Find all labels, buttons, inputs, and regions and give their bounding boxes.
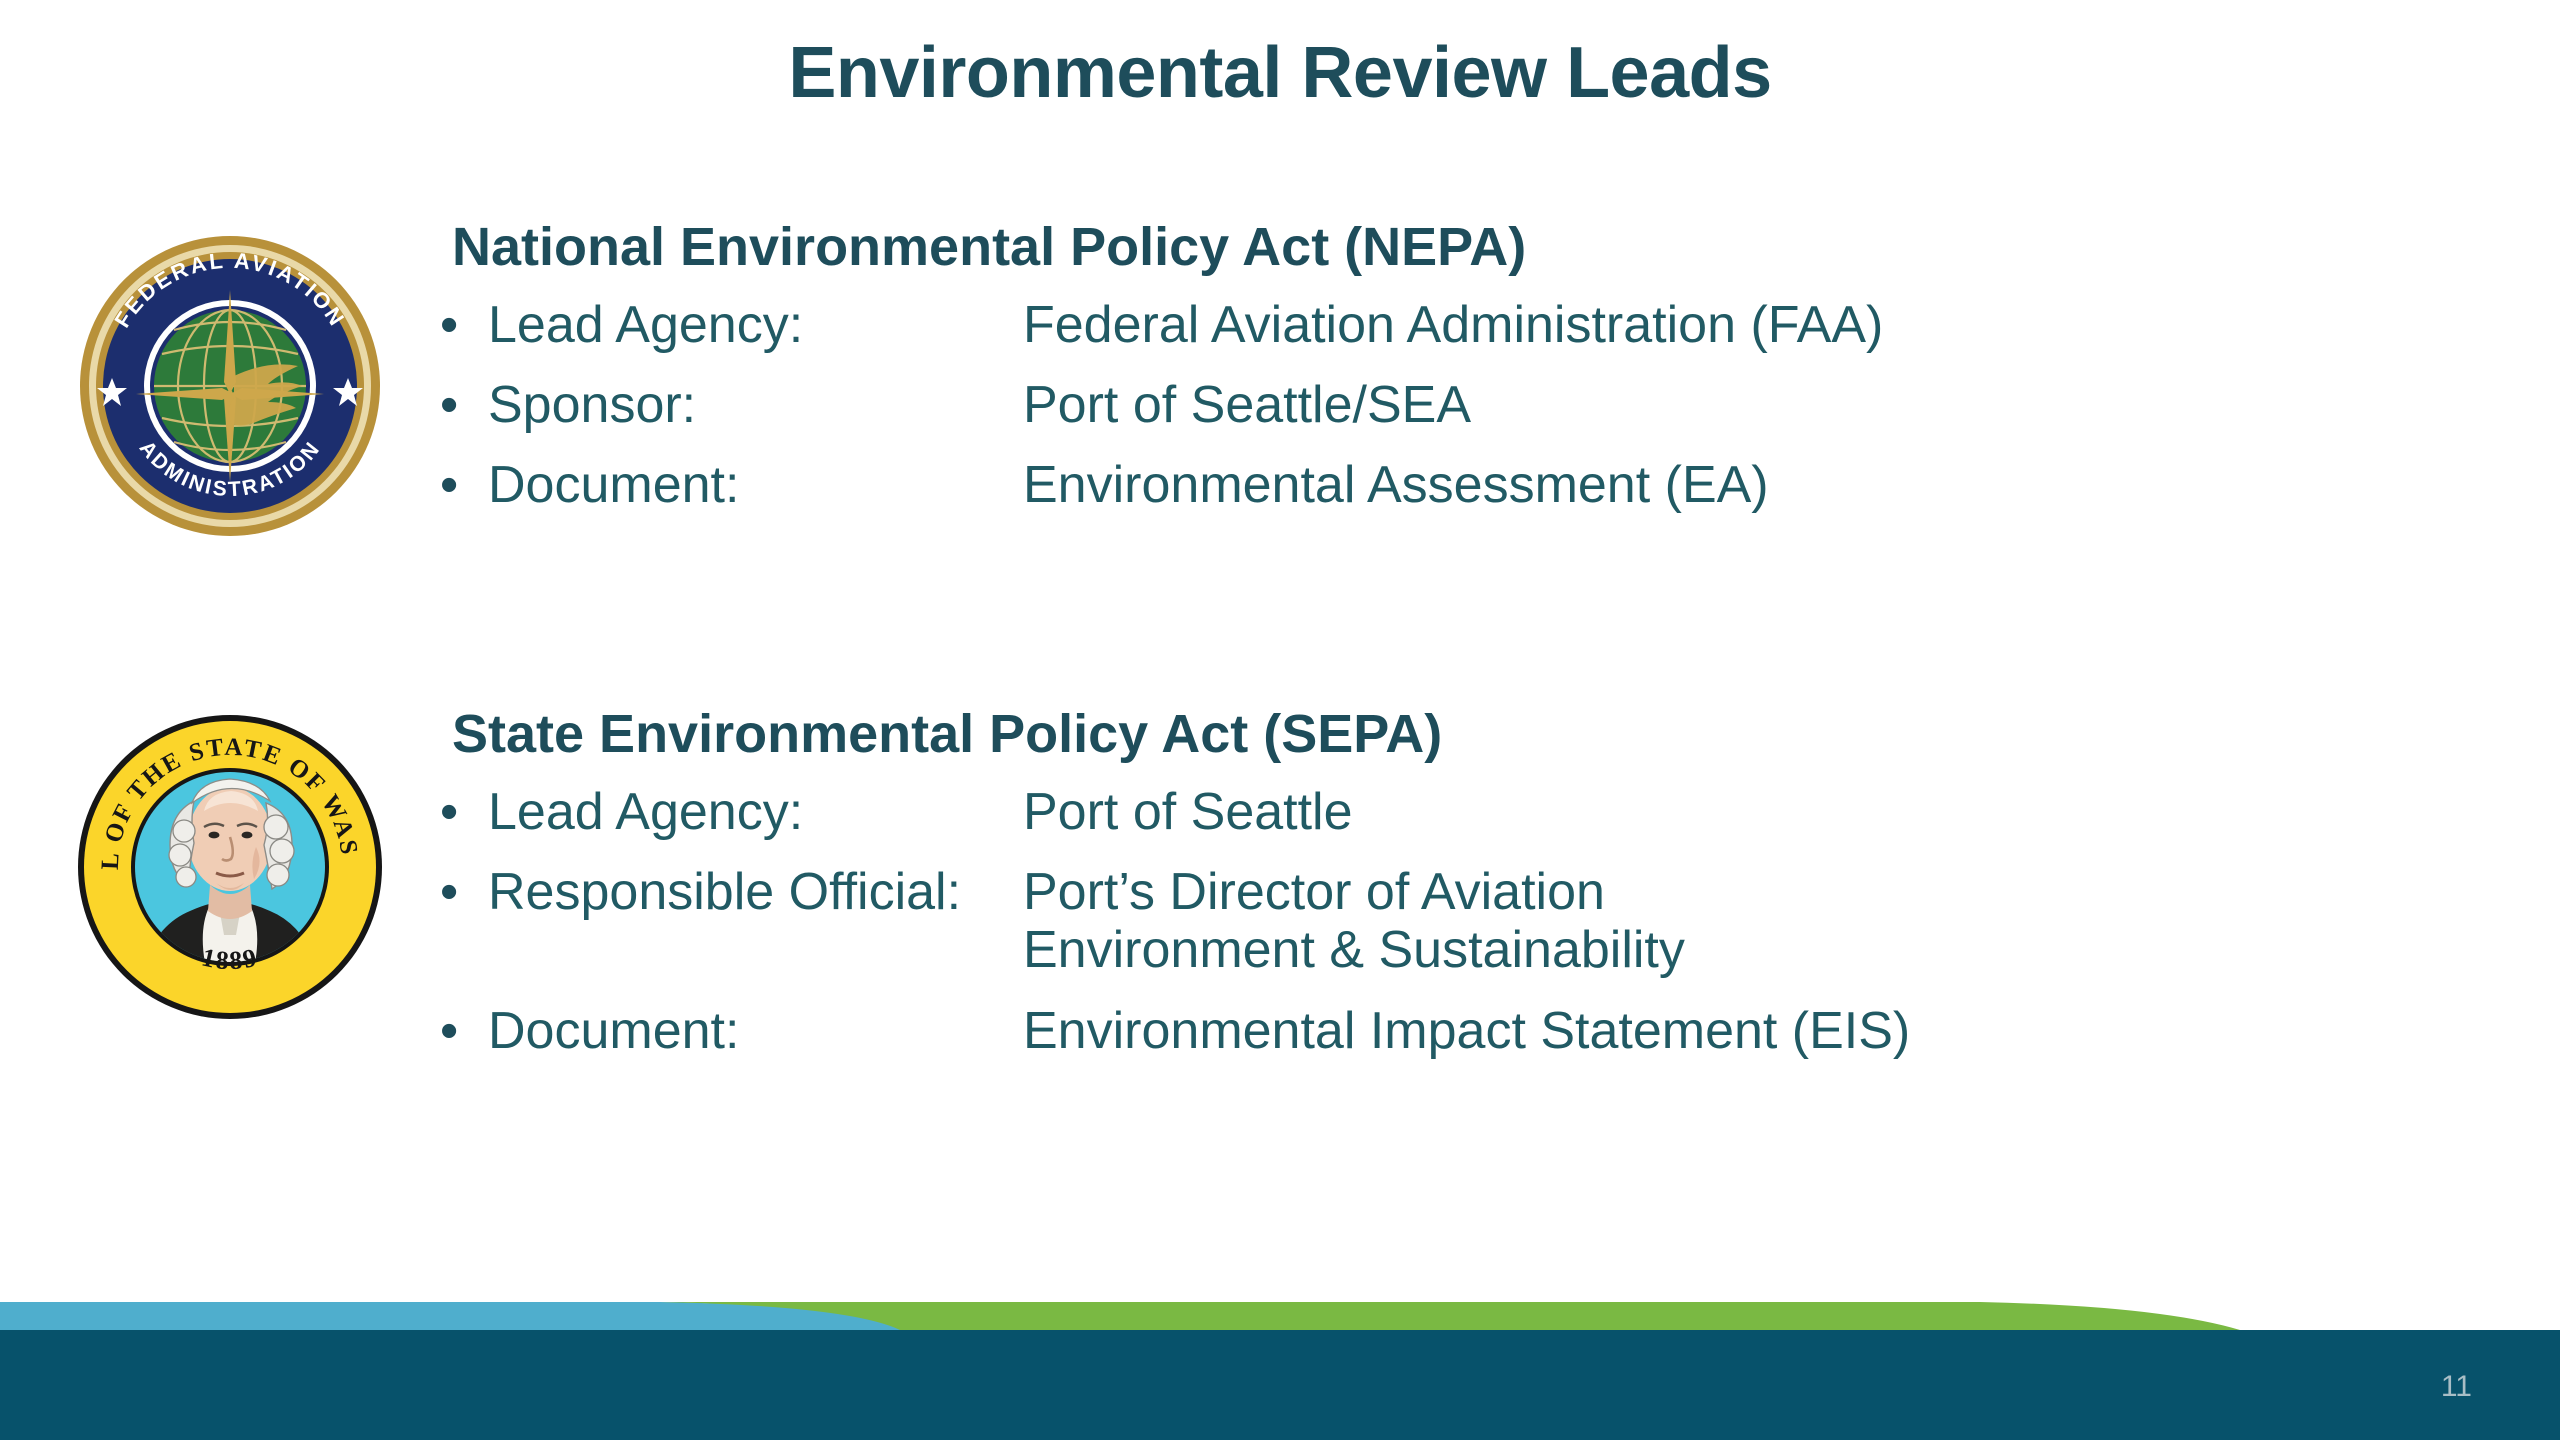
row-value: Port of Seattle bbox=[1023, 783, 2540, 841]
row-value: Port’s Director of Aviation Environment … bbox=[1023, 863, 2540, 979]
bullet-list-sepa: • Lead Agency: Port of Seattle • Respons… bbox=[440, 783, 2540, 1082]
bullet-icon: • bbox=[440, 296, 488, 354]
faa-seal-icon: FEDERAL AVIATION ADMINISTRATION bbox=[70, 226, 390, 546]
row-label: Lead Agency: bbox=[488, 296, 1023, 354]
bullet-icon: • bbox=[440, 863, 488, 921]
footer-green-band bbox=[660, 1302, 2240, 1330]
bullet-icon: • bbox=[440, 376, 488, 434]
row-value-line-2: Environment & Sustainability bbox=[1023, 921, 2540, 979]
footer-dark-band bbox=[0, 1330, 2560, 1440]
row-value-line-1: Port’s Director of Aviation bbox=[1023, 863, 2540, 921]
bullet-icon: • bbox=[440, 456, 488, 514]
bullet-list-nepa: • Lead Agency: Federal Aviation Administ… bbox=[440, 296, 2540, 537]
list-item: • Lead Agency: Port of Seattle bbox=[440, 783, 2540, 841]
page-number: 11 bbox=[2441, 1372, 2472, 1402]
row-value: Port of Seattle/SEA bbox=[1023, 376, 2540, 434]
row-label: Document: bbox=[488, 1002, 1023, 1060]
bullet-icon: • bbox=[440, 1002, 488, 1060]
footer-decoration: 11 bbox=[0, 1280, 2560, 1440]
row-value: Environmental Assessment (EA) bbox=[1023, 456, 2540, 514]
row-value: Environmental Impact Statement (EIS) bbox=[1023, 1002, 2540, 1060]
row-value: Federal Aviation Administration (FAA) bbox=[1023, 296, 2540, 354]
section-heading-sepa: State Environmental Policy Act (SEPA) bbox=[452, 705, 1442, 764]
list-item: • Sponsor: Port of Seattle/SEA bbox=[440, 376, 2540, 434]
washington-state-seal-icon: THE SEAL OF THE STATE OF WASHINGTON 1889 bbox=[70, 707, 390, 1027]
slide-canvas: Environmental Review Leads bbox=[0, 0, 2560, 1440]
slide-content: FEDERAL AVIATION ADMINISTRATION National… bbox=[0, 0, 2560, 1280]
list-item: • Responsible Official: Port’s Director … bbox=[440, 863, 2540, 979]
bullet-icon: • bbox=[440, 783, 488, 841]
svg-text:1889: 1889 bbox=[199, 942, 261, 975]
list-item: • Document: Environmental Assessment (EA… bbox=[440, 456, 2540, 514]
row-label: Sponsor: bbox=[488, 376, 1023, 434]
row-label: Lead Agency: bbox=[488, 783, 1023, 841]
list-item: • Lead Agency: Federal Aviation Administ… bbox=[440, 296, 2540, 354]
section-heading-nepa: National Environmental Policy Act (NEPA) bbox=[452, 218, 1526, 277]
row-label: Responsible Official: bbox=[488, 863, 1023, 921]
list-item: • Document: Environmental Impact Stateme… bbox=[440, 1002, 2540, 1060]
row-label: Document: bbox=[488, 456, 1023, 514]
